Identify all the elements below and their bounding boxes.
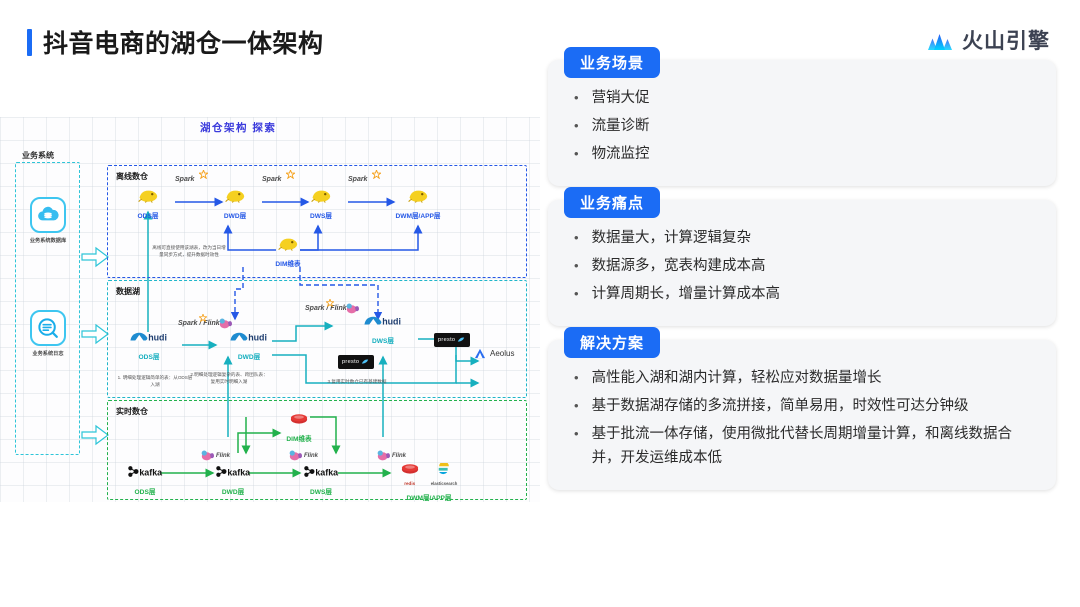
lake-label-dws: DWS层 (372, 338, 394, 345)
hive-icon (407, 187, 429, 203)
bullet-text: 基于数据湖存储的多流拼接，简单易用，时效性可达分钟级 (592, 394, 1034, 419)
lake-node-dws: hudi DWS层 (358, 313, 408, 348)
bullet-text: 营销大促 (592, 86, 1034, 111)
card-badge-solution: 解决方案 (564, 327, 660, 358)
realtime-label-dws: DWS层 (298, 486, 344, 496)
feed-arrow-lake (82, 325, 108, 343)
realtime-sink-redis-label: redis (401, 481, 419, 486)
offline-label-dwm-app: DWM层/APP层 (395, 213, 440, 220)
lake-node-ods: hudi ODS层 (124, 329, 174, 364)
flink-squirrel-icon-4 (288, 449, 303, 462)
bullet-text: 数据量大，计算逻辑复杂 (592, 226, 1034, 251)
feed-arrow-offline (82, 248, 108, 266)
presto-mark-icon-1 (457, 336, 465, 344)
hudi-icon: hudi (362, 313, 404, 328)
offline-label-dim: DIM维表 (275, 261, 300, 268)
realtime-section-title: 实时数仓 (113, 406, 151, 417)
card-solution: 解决方案 •高性能入湖和湖内计算，轻松应对数据量增长 •基于数据湖存储的多流拼接… (548, 340, 1056, 491)
list-item: •基于数据湖存储的多流拼接，简单易用，时效性可达分钟级 (574, 394, 1034, 419)
bullet-dot: • (574, 366, 579, 391)
presto-label-2: presto (342, 359, 359, 365)
hudi-icon: hudi (128, 329, 170, 344)
svg-text:kafka: kafka (139, 468, 163, 478)
presto-badge-1: presto (434, 333, 470, 347)
offline-label-dws: DWS层 (310, 213, 332, 220)
bullet-text: 基于批流一体存储，使用微批代替长周期增量计算，和离线数据合并，开发运维成本低 (592, 422, 1034, 472)
cloud-database-icon (30, 197, 66, 233)
business-system-label: 业务系统 (22, 150, 54, 161)
diagram-title: 湖仓架构 探索 (200, 120, 276, 135)
svg-text:kafka: kafka (315, 468, 339, 478)
card-badge-painpoint: 业务痛点 (564, 187, 660, 218)
realtime-node-ods: kafka ODS层 (122, 465, 168, 496)
flink-squirrel-icon-5 (376, 449, 391, 462)
painpoint-bullet-list: •数据量大，计算逻辑复杂 •数据源多，宽表构建成本高 •计算周期长，增量计算成本… (574, 226, 1034, 307)
hive-icon (277, 235, 299, 251)
bullet-dot: • (574, 142, 579, 167)
offline-section-title: 离线数仓 (113, 171, 151, 182)
feed-arrow-realtime (82, 426, 108, 444)
business-database-caption: 业务系统数据库 (28, 237, 68, 244)
spark-star-icon-5 (326, 299, 334, 307)
lake-note-2: 2.明细处理逻辑复杂的表、跨团队表：复用实时明细入湖 (190, 372, 268, 386)
bullet-dot: • (574, 394, 579, 419)
info-cards: 业务场景 •营销大促 •流量诊断 •物流监控 业务痛点 •数据量大，计算逻辑复杂… (548, 60, 1056, 504)
bullet-text: 数据源多，宽表构建成本高 (592, 254, 1034, 279)
brand-name: 火山引擎 (962, 25, 1050, 55)
bullet-text: 计算周期长，增量计算成本高 (592, 282, 1034, 307)
bullet-dot: • (574, 422, 579, 472)
list-item: •高性能入湖和湖内计算，轻松应对数据量增长 (574, 366, 1034, 391)
offline-node-ods: ODS层 (128, 187, 168, 223)
page-title: 抖音电商的湖仓一体架构 (43, 24, 324, 60)
list-item: •营销大促 (574, 86, 1034, 111)
flink-squirrel-icon-3 (200, 449, 215, 462)
lake-note-3: 3.复用实时数仓已有基建数据 (318, 379, 396, 386)
svg-text:hudi: hudi (148, 333, 167, 343)
kafka-icon-1: kafka (127, 465, 163, 478)
engine-label-spark-3: Spark (348, 176, 367, 183)
architecture-diagram: 湖仓架构 探索 业务系统 业务系统数据库 (0, 117, 540, 502)
list-item: •数据量大，计算逻辑复杂 (574, 226, 1034, 251)
log-search-icon (30, 310, 66, 346)
lake-section-title: 数据湖 (113, 286, 143, 297)
presto-badge-2: presto (338, 355, 374, 369)
solution-bullet-list: •高性能入湖和湖内计算，轻松应对数据量增长 •基于数据湖存储的多流拼接，简单易用… (574, 366, 1034, 472)
bullet-dot: • (574, 226, 579, 251)
list-item: •基于批流一体存储，使用微批代替长周期增量计算，和离线数据合并，开发运维成本低 (574, 422, 1034, 472)
kafka-icon-2: kafka (215, 465, 251, 478)
engine-label-spark-2: Spark (262, 176, 281, 183)
slide: 抖音电商的湖仓一体架构 火山引擎 湖仓架构 探索 业务系统 (0, 0, 1080, 607)
aeolus-platform: Aeolus (474, 348, 514, 359)
list-item: •流量诊断 (574, 114, 1034, 139)
realtime-label-dwm-app: DWM层/APP层 (388, 492, 470, 502)
redis-icon-1 (290, 413, 308, 426)
bullet-dot: • (574, 254, 579, 279)
presto-label-1: presto (438, 337, 455, 343)
presto-mark-icon-2 (361, 358, 369, 366)
realtime-node-dws: kafka DWS层 (298, 465, 344, 496)
title-accent-bar (27, 29, 32, 56)
engine-label-flink-3: Flink (392, 453, 406, 459)
offline-node-dim: DIM维表 (258, 235, 318, 271)
aeolus-icon (474, 348, 486, 359)
lake-note-1: 1. 明细处理逻辑简单的表：从ODS层入湖 (116, 375, 194, 389)
realtime-sink-elasticsearch: elasticsearch (431, 463, 458, 486)
business-log-caption: 业务系统日志 (28, 350, 68, 357)
aeolus-label: Aeolus (490, 349, 514, 358)
offline-label-dwd: DWD层 (224, 213, 246, 220)
engine-label-spark-1: Spark (175, 176, 194, 183)
offline-label-ods: ODS层 (138, 213, 159, 220)
spark-star-icon-1 (199, 170, 208, 179)
kafka-icon-3: kafka (303, 465, 339, 478)
offline-note: 离线可直接使用该湖表，改为当日增量同步方式，提升数据时效性 (150, 245, 228, 259)
bullet-dot: • (574, 282, 579, 307)
hive-icon (137, 187, 159, 203)
bullet-dot: • (574, 86, 579, 111)
spark-star-icon-3 (372, 170, 381, 179)
elasticsearch-icon (437, 463, 451, 476)
svg-text:hudi: hudi (248, 333, 267, 343)
business-log-node: 业务系统日志 (28, 310, 68, 357)
lake-label-ods: ODS层 (139, 354, 160, 361)
bullet-text: 高性能入湖和湖内计算，轻松应对数据量增长 (592, 366, 1034, 391)
offline-node-dwm-app: DWM层/APP层 (383, 187, 453, 223)
realtime-sink-redis: redis (401, 463, 419, 486)
card-badge-scenario: 业务场景 (564, 47, 660, 78)
card-business-scenario: 业务场景 •营销大促 •流量诊断 •物流监控 (548, 60, 1056, 186)
realtime-node-dim: DIM维表 (276, 413, 322, 446)
business-database-node: 业务系统数据库 (28, 197, 68, 244)
hive-icon (310, 187, 332, 203)
bullet-dot: • (574, 114, 579, 139)
lake-node-dwd: hudi DWD层 (224, 329, 274, 364)
bullet-text: 流量诊断 (592, 114, 1034, 139)
volcano-mountain-icon (927, 29, 953, 51)
page-title-group: 抖音电商的湖仓一体架构 (27, 24, 324, 60)
realtime-node-dwm-app: redis elasticsearch DWM层/APP层 (388, 463, 470, 502)
engine-label-flink-1: Flink (216, 453, 230, 459)
hudi-icon: hudi (228, 329, 270, 344)
brand-logo: 火山引擎 (927, 25, 1050, 55)
hive-icon (224, 187, 246, 203)
realtime-sink-es-label: elasticsearch (431, 481, 458, 486)
engine-label-flink-2: Flink (304, 453, 318, 459)
offline-node-dwd: DWD层 (215, 187, 255, 223)
redis-icon-2 (401, 463, 419, 476)
list-item: •物流监控 (574, 142, 1034, 167)
spark-star-icon-2 (286, 170, 295, 179)
card-business-painpoint: 业务痛点 •数据量大，计算逻辑复杂 •数据源多，宽表构建成本高 •计算周期长，增… (548, 200, 1056, 326)
list-item: •数据源多，宽表构建成本高 (574, 254, 1034, 279)
offline-node-dws: DWS层 (301, 187, 341, 223)
bullet-text: 物流监控 (592, 142, 1034, 167)
svg-text:kafka: kafka (227, 468, 251, 478)
spark-star-icon-4 (199, 314, 207, 322)
lake-label-dwd: DWD层 (238, 354, 260, 361)
svg-text:hudi: hudi (382, 317, 401, 327)
scenario-bullet-list: •营销大促 •流量诊断 •物流监控 (574, 86, 1034, 167)
realtime-label-dwd: DWD层 (210, 486, 256, 496)
realtime-node-dwd: kafka DWD层 (210, 465, 256, 496)
list-item: •计算周期长，增量计算成本高 (574, 282, 1034, 307)
realtime-label-ods: ODS层 (122, 486, 168, 496)
realtime-label-dim: DIM维表 (286, 436, 311, 443)
